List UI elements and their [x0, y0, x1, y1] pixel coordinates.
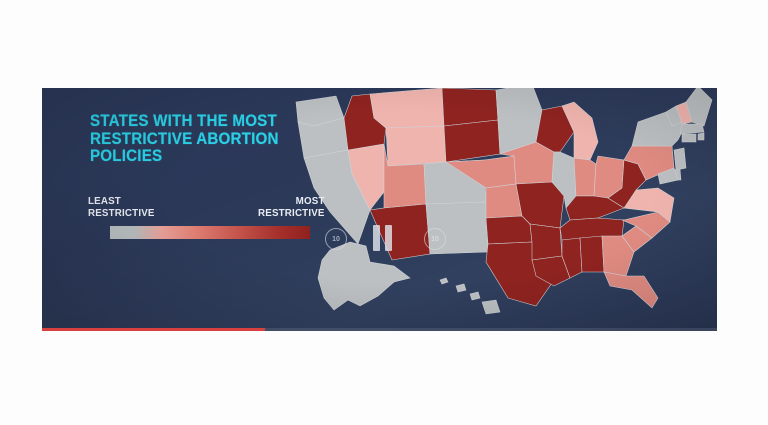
state-MA [680, 124, 704, 134]
forward-10-icon[interactable]: 10 [424, 228, 444, 248]
state-WY [386, 126, 446, 166]
pause-icon[interactable] [369, 224, 395, 252]
legend-gradient-bar [110, 226, 310, 239]
video-progress-fill [42, 328, 265, 331]
state-KS [486, 184, 522, 218]
legend-least-line-2: RESTRICTIVE [88, 208, 155, 220]
state-ND [442, 88, 498, 126]
state-RI [698, 133, 704, 140]
state-AR [530, 224, 562, 260]
state-MT [370, 88, 444, 128]
state-AL [580, 236, 604, 272]
state-SD [444, 120, 500, 162]
replay-10-ring: 10 [325, 228, 347, 250]
graphic-headline: STATES WITH THE MOST RESTRICTIVE ABORTIO… [90, 113, 320, 166]
video-progress-track[interactable] [42, 328, 717, 331]
state-CT [682, 134, 696, 142]
state-NJ [674, 148, 686, 170]
video-player[interactable]: STATES WITH THE MOST RESTRICTIVE ABORTIO… [42, 88, 717, 331]
replay-10-icon[interactable]: 10 [325, 228, 345, 248]
legend-least-line-1: LEAST [88, 196, 155, 208]
map-legend: LEAST RESTRICTIVE MOST RESTRICTIVE [72, 196, 317, 222]
state-OK [486, 216, 532, 244]
forward-10-label: 10 [431, 236, 439, 243]
forward-10-ring: 10 [424, 228, 446, 250]
legend-label-most: MOST RESTRICTIVE [258, 196, 325, 219]
legend-labels: LEAST RESTRICTIVE MOST RESTRICTIVE [72, 196, 317, 222]
pause-bar-left [373, 225, 380, 251]
page-root: STATES WITH THE MOST RESTRICTIVE ABORTIO… [0, 0, 768, 425]
state-FL [604, 272, 658, 308]
headline-line-1: STATES WITH THE MOST [90, 112, 277, 130]
pause-bar-right [385, 225, 392, 251]
legend-most-line-2: RESTRICTIVE [258, 208, 325, 220]
replay-10-label: 10 [332, 236, 340, 243]
headline-line-2: RESTRICTIVE ABORTION POLICIES [90, 131, 320, 166]
state-HI [440, 278, 500, 314]
legend-most-line-1: MOST [258, 196, 325, 208]
state-IN [574, 158, 596, 196]
legend-label-least: LEAST RESTRICTIVE [88, 196, 155, 219]
